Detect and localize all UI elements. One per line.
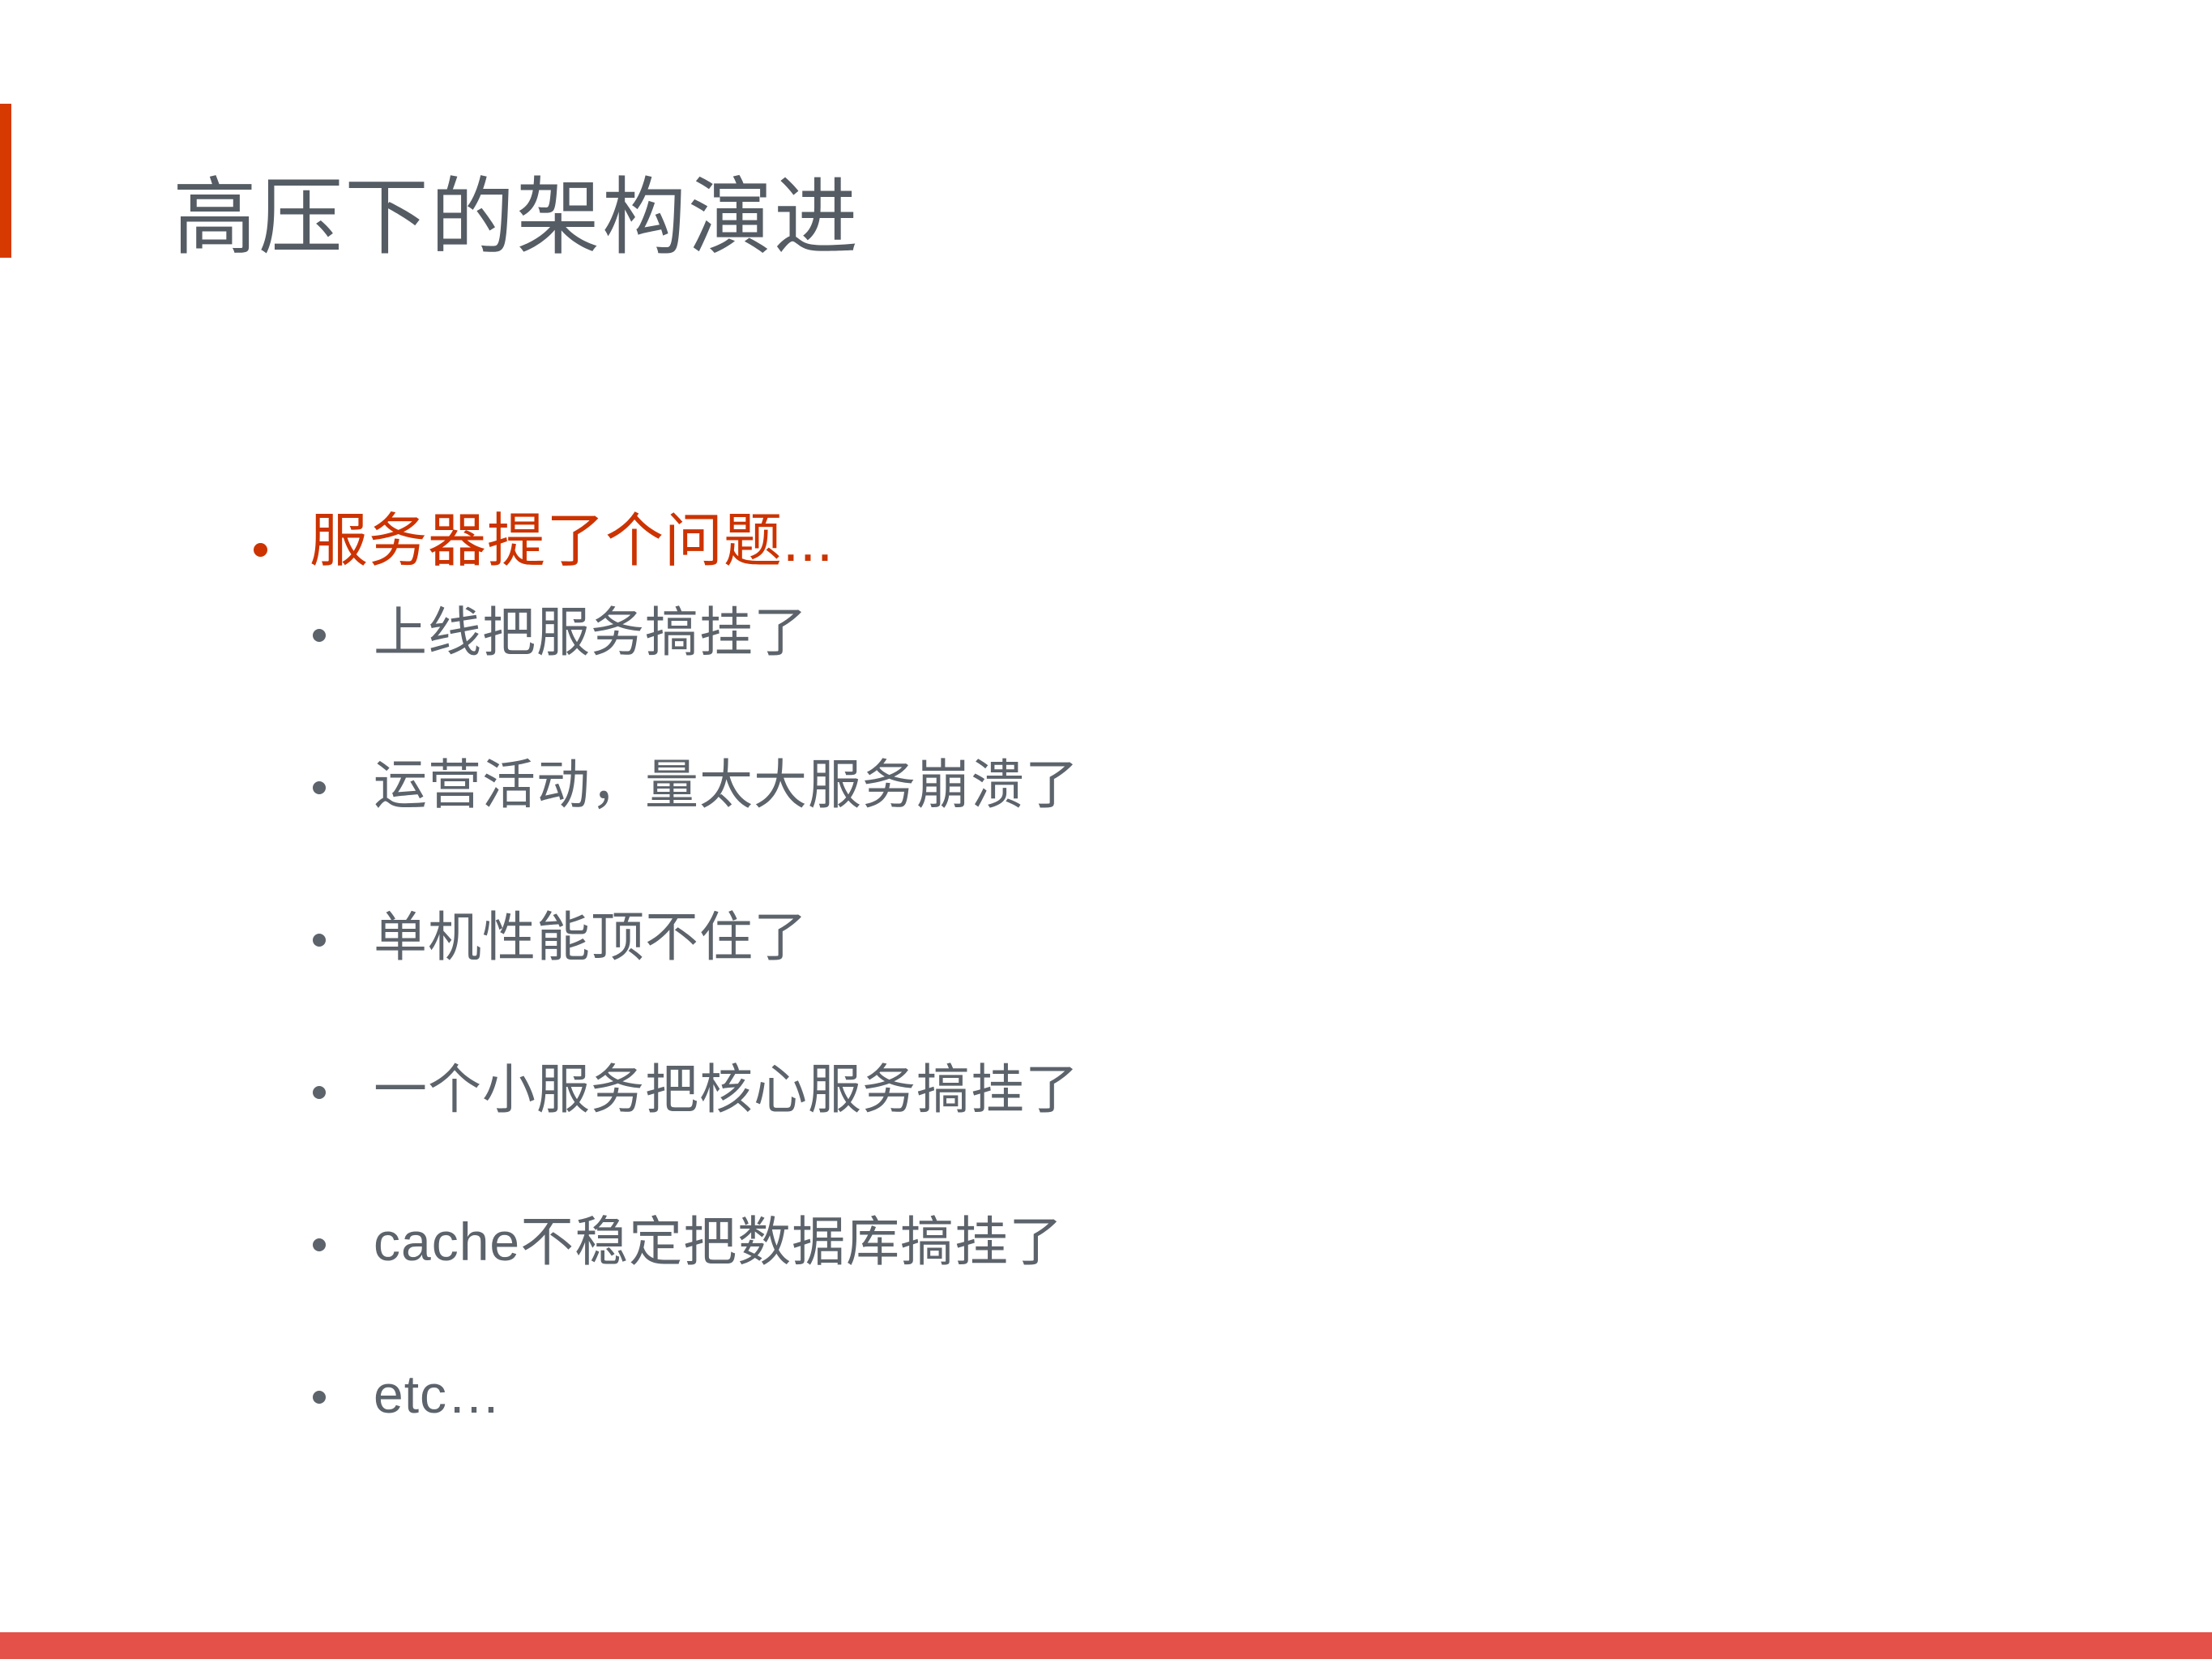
list-item-label: 运营活动，量太大服务崩溃了 [374,739,1079,830]
bullet-dot-icon [313,781,326,794]
page-title: 高压下的架构演进 [173,165,1955,272]
slide-canvas: 高压下的架构演进 服务器提了个问题... 上线把服务搞挂了 运营活动，量太大服务… [0,0,2212,1659]
list-item-label: 单机性能顶不住了 [374,891,808,982]
bullet-dot-icon [254,543,267,557]
bullet-list: 服务器提了个问题... 上线把服务搞挂了 运营活动，量太大服务崩溃了 单机性能顶… [0,496,2212,1501]
list-item: 上线把服务搞挂了 [0,587,2212,739]
title-accent-bar [0,104,11,258]
list-item-label: cache不稳定把数据库搞挂了 [374,1196,1063,1287]
list-item: cache不稳定把数据库搞挂了 [0,1196,2212,1349]
list-item: 单机性能顶不住了 [0,891,2212,1044]
bullet-dot-icon [313,1086,326,1099]
list-item: 运营活动，量太大服务崩溃了 [0,739,2212,891]
bullet-dot-icon [313,1391,326,1404]
list-item-label: etc… [374,1349,502,1439]
bullet-dot-icon [313,1238,326,1251]
bullet-dot-icon [313,629,326,642]
list-item: 一个小服务把核心服务搞挂了 [0,1044,2212,1196]
list-item-label: 服务器提了个问题... [310,496,834,587]
list-item: 服务器提了个问题... [0,496,2212,587]
list-item: etc… [0,1349,2212,1501]
list-item-label: 一个小服务把核心服务搞挂了 [374,1044,1079,1135]
footer-accent-bar [0,1632,2212,1659]
list-item-label: 上线把服务搞挂了 [374,587,808,678]
bullet-dot-icon [313,934,326,947]
